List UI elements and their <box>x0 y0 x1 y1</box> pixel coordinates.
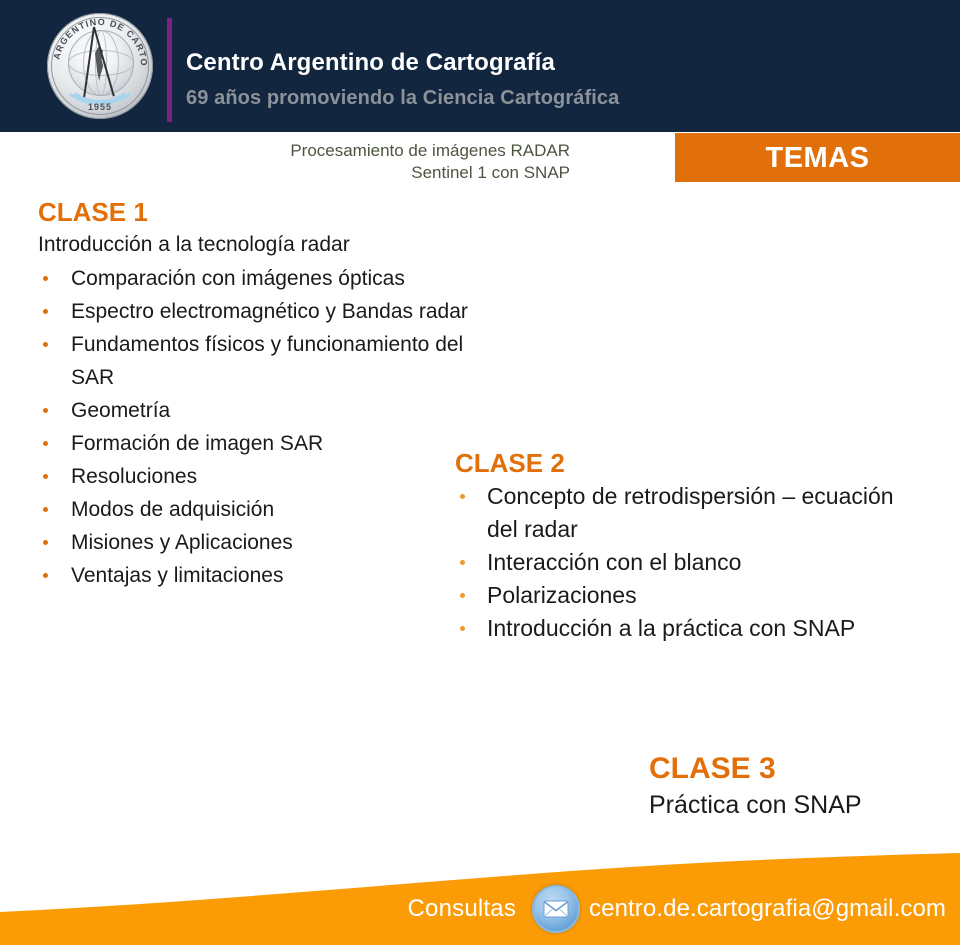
bullet-icon <box>43 507 48 512</box>
list-item: Misiones y Aplicaciones <box>38 526 478 559</box>
list-item: Ventajas y limitaciones <box>38 559 478 592</box>
clase1-lead: Introducción a la tecnología radar <box>38 230 478 260</box>
list-item: Interacción con el blanco <box>455 546 925 579</box>
list-item-label: Espectro electromagnético y Bandas radar <box>71 300 468 323</box>
course-title-line2: Sentinel 1 con SNAP <box>180 162 570 184</box>
list-item: Comparación con imágenes ópticas <box>38 262 478 295</box>
bullet-icon <box>43 540 48 545</box>
bullet-icon <box>460 560 465 565</box>
header-bar: CENTRO ARGENTINO DE CARTOGRAFIA 1955 Cen… <box>0 0 960 132</box>
list-item-label: Polarizaciones <box>487 582 637 608</box>
bullet-icon <box>460 494 465 499</box>
organization-tagline: 69 años promoviendo la Ciencia Cartográf… <box>186 87 619 110</box>
list-item: Resoluciones <box>38 460 478 493</box>
list-item-label: Interacción con el blanco <box>487 549 741 575</box>
envelope-icon[interactable] <box>532 885 580 933</box>
email-address[interactable]: centro.de.cartografia@gmail.com <box>589 895 946 923</box>
header-purple-divider <box>167 18 172 122</box>
course-title: Procesamiento de imágenes RADAR Sentinel… <box>180 140 570 184</box>
list-item-label: Fundamentos físicos y funcionamiento del… <box>71 333 463 389</box>
list-item: Espectro electromagnético y Bandas radar <box>38 295 478 328</box>
footer-contact-bar: Consultas centro.de.cartografia@gmail.co… <box>0 873 960 945</box>
list-item-label: Modos de adquisición <box>71 498 274 521</box>
list-item-label: Comparación con imágenes ópticas <box>71 267 405 290</box>
bullet-icon <box>460 626 465 631</box>
list-item: Modos de adquisición <box>38 493 478 526</box>
list-item: Geometría <box>38 394 478 427</box>
envelope-glyph <box>543 900 569 918</box>
list-item-label: Concepto de retrodispersión – ecuación d… <box>487 483 894 542</box>
temas-banner: TEMAS <box>675 133 960 182</box>
list-item: Formación de imagen SAR <box>38 427 478 460</box>
clase2-heading: CLASE 2 <box>455 447 925 479</box>
bullet-icon <box>43 342 48 347</box>
list-item-label: Ventajas y limitaciones <box>71 564 283 587</box>
logo-seal-text-top: CENTRO ARGENTINO DE CARTOGRAFIA <box>47 13 149 67</box>
clase3-heading: CLASE 3 <box>649 751 949 787</box>
organization-title: Centro Argentino de Cartografía <box>186 49 555 77</box>
clase3-section: CLASE 3 Práctica con SNAP <box>649 751 949 821</box>
list-item: Fundamentos físicos y funcionamiento del… <box>38 328 478 394</box>
list-item-label: Introducción a la práctica con SNAP <box>487 615 855 641</box>
list-item: Polarizaciones <box>455 579 925 612</box>
list-item-label: Misiones y Aplicaciones <box>71 531 293 554</box>
bullet-icon <box>43 309 48 314</box>
clase1-topic-list: Comparación con imágenes ópticas Espectr… <box>38 262 478 592</box>
consultas-label: Consultas <box>408 895 517 923</box>
bullet-icon <box>43 474 48 479</box>
clase1-section: CLASE 1 Introducción a la tecnología rad… <box>38 196 478 592</box>
bullet-icon <box>43 441 48 446</box>
bullet-icon <box>43 408 48 413</box>
bullet-icon <box>43 276 48 281</box>
list-item-label: Geometría <box>71 399 170 422</box>
list-item: Introducción a la práctica con SNAP <box>455 612 925 645</box>
course-title-line1: Procesamiento de imágenes RADAR <box>180 140 570 162</box>
temas-banner-label: TEMAS <box>675 142 960 175</box>
clase2-section: CLASE 2 Concepto de retrodispersión – ec… <box>455 447 925 645</box>
clase1-heading: CLASE 1 <box>38 196 478 228</box>
clase3-lead: Práctica con SNAP <box>649 789 949 821</box>
logo-year: 1955 <box>47 102 153 112</box>
list-item-label: Formación de imagen SAR <box>71 432 323 455</box>
bullet-icon <box>43 573 48 578</box>
list-item: Concepto de retrodispersión – ecuación d… <box>455 480 925 546</box>
clase2-topic-list: Concepto de retrodispersión – ecuación d… <box>455 480 925 645</box>
bullet-icon <box>460 593 465 598</box>
list-item-label: Resoluciones <box>71 465 197 488</box>
organization-logo: CENTRO ARGENTINO DE CARTOGRAFIA 1955 <box>47 13 153 119</box>
